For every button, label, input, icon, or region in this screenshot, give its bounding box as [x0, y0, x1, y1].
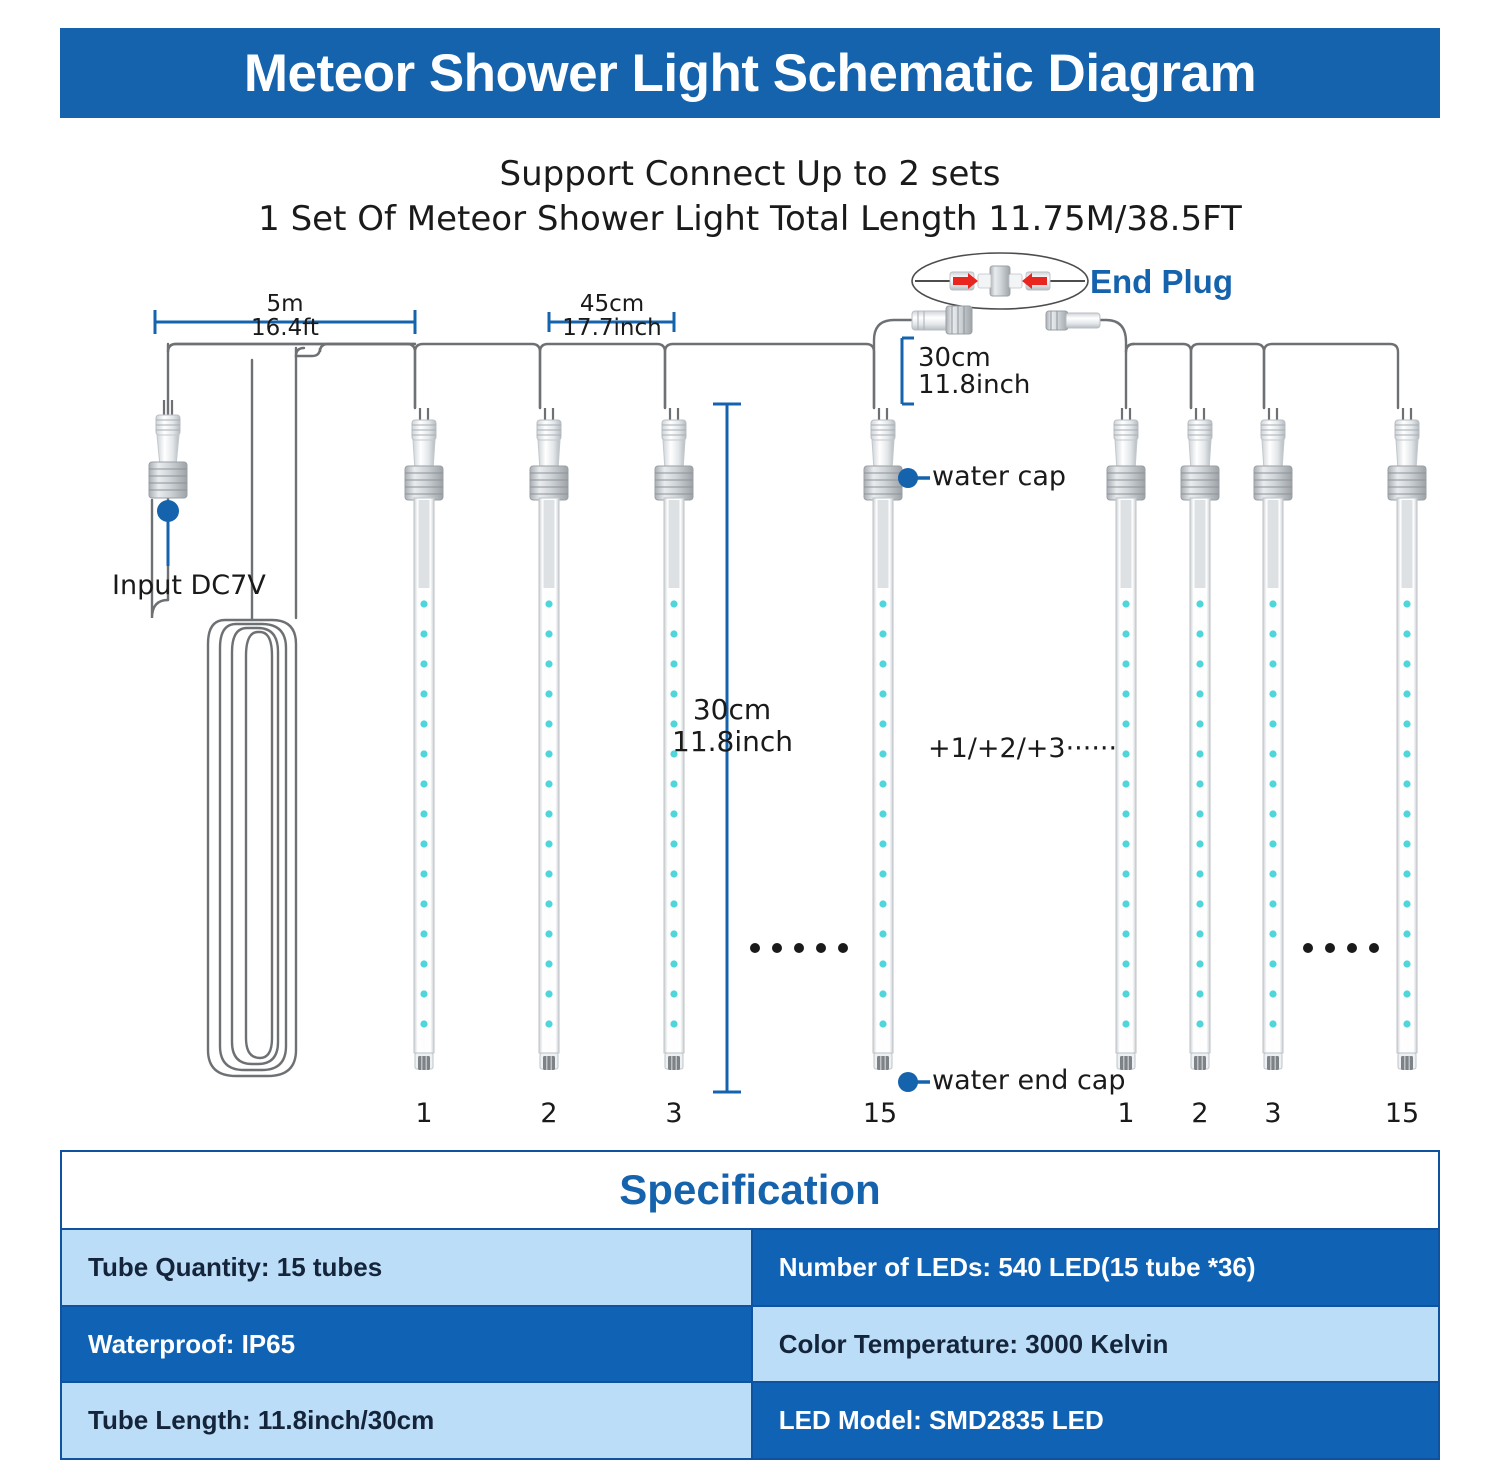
spec-row-3: Tube Length: 11.8inch/30cm LED Model: SM… [62, 1383, 1438, 1458]
tube-1 [405, 408, 443, 1070]
tube-number-2-1: 1 [1106, 1098, 1146, 1129]
tube-number-1-3: 3 [654, 1098, 694, 1129]
spec-cell-color-temperature: Color Temperature: 3000 Kelvin [753, 1307, 1438, 1382]
set-joint-connectors [912, 306, 1100, 334]
spec-row-1: Tube Quantity: 15 tubes Number of LEDs: … [62, 1230, 1438, 1307]
dimension-drop-length: 30cm 11.8inch [918, 345, 1058, 400]
specification-table: Specification Tube Quantity: 15 tubes Nu… [60, 1150, 1440, 1460]
ellipsis-dots-set2 [1303, 943, 1379, 953]
tube-number-1-1: 1 [404, 1098, 444, 1129]
tube-set-1 [405, 408, 902, 1070]
input-voltage-label: Input DC7V [112, 570, 266, 601]
tube-15 [864, 408, 902, 1070]
tube-number-2-3: 3 [1253, 1098, 1293, 1129]
callout-leaders [898, 468, 930, 1092]
end-plug-detail [912, 253, 1088, 309]
dc-input-connector [149, 400, 187, 498]
spec-row-2: Waterproof: IP65 Color Temperature: 3000… [62, 1307, 1438, 1384]
water-end-cap-label: water end cap [932, 1065, 1125, 1096]
tube-2-2 [1181, 408, 1219, 1070]
spec-cell-led-model: LED Model: SMD2835 LED [753, 1383, 1438, 1458]
tube-number-2-2: 2 [1180, 1098, 1220, 1129]
tube-2 [530, 408, 568, 1070]
expandable-sets-label: +1/+2/+3······ [928, 733, 1117, 764]
dimension-cable-length: 5m 16.4ft [230, 292, 340, 340]
tube-number-1-2: 2 [529, 1098, 569, 1129]
tube-set-2 [1107, 408, 1426, 1070]
tube-2-15 [1388, 408, 1426, 1070]
dimension-lines [155, 310, 914, 1092]
ellipsis-dots-set1 [750, 943, 848, 953]
tube-2-3 [1254, 408, 1292, 1070]
dimension-tube-spacing: 45cm 17.7inch [551, 292, 673, 340]
schematic-diagram: 5m 16.4ft 45cm 17.7inch 30cm 11.8inch 30… [0, 0, 1500, 1150]
tube-number-2-15: 15 [1382, 1098, 1422, 1129]
specification-title-row: Specification [62, 1152, 1438, 1230]
input-callout-leader [157, 500, 179, 566]
dimension-tube-length: 30cm 11.8inch [672, 694, 792, 758]
spec-cell-tube-length: Tube Length: 11.8inch/30cm [62, 1383, 753, 1458]
water-cap-label: water cap [932, 461, 1066, 492]
spec-cell-waterproof: Waterproof: IP65 [62, 1307, 753, 1382]
spec-cell-tube-quantity: Tube Quantity: 15 tubes [62, 1230, 753, 1305]
specification-title: Specification [619, 1166, 880, 1214]
tube-number-1-15: 15 [860, 1098, 900, 1129]
spec-cell-number-of-leds: Number of LEDs: 540 LED(15 tube *36) [753, 1230, 1438, 1305]
schematic-page: Meteor Shower Light Schematic Diagram Su… [0, 0, 1500, 1478]
end-plug-label: End Plug [1090, 263, 1233, 301]
